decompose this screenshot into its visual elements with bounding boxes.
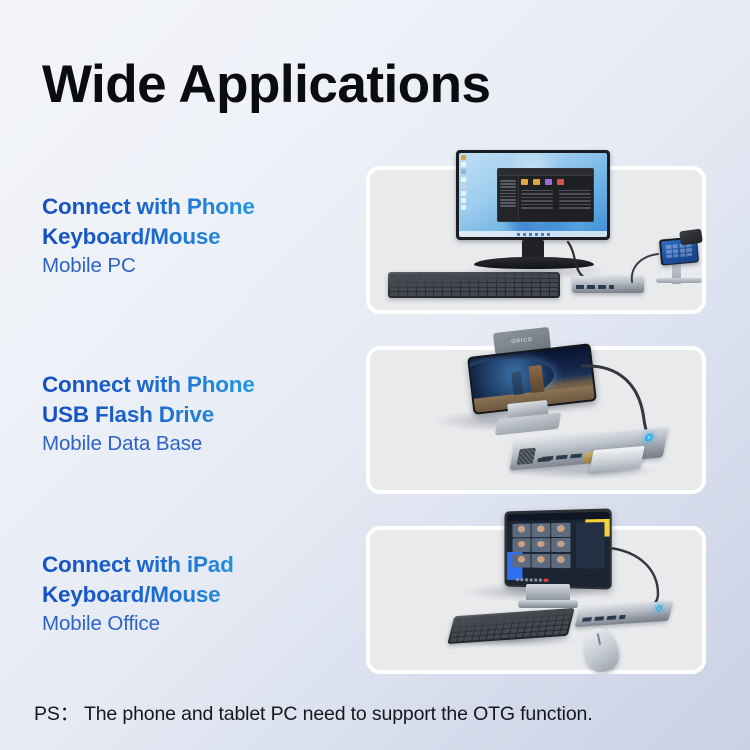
power-led	[656, 606, 662, 611]
orico-logo-text: ORICO	[511, 337, 533, 345]
scene-ipad-keyboard-hub-mouse	[366, 504, 706, 674]
explorer-toolbar	[498, 169, 593, 176]
application-row-1: Connect with Phone Keyboard/Mouse Mobile…	[0, 140, 750, 316]
heading-line1-2: Connect with Phone	[42, 370, 342, 400]
stand-top-clamp	[679, 229, 703, 246]
scene-phone-stand-hub-usbdrive: ORICO	[366, 324, 706, 494]
heading-line2-1: Keyboard/Mouse	[42, 222, 342, 252]
subtitle-2: Mobile Data Base	[42, 432, 342, 456]
explorer-sidebar	[498, 176, 519, 222]
mouse	[580, 625, 622, 674]
meeting-control-bar	[516, 577, 577, 584]
explorer-file-rows	[521, 188, 591, 211]
power-led	[645, 434, 654, 442]
heading-line1-1: Connect with Phone	[42, 192, 342, 222]
application-image-card-1	[366, 166, 706, 314]
windows-taskbar	[459, 231, 607, 237]
participant-video-grid	[512, 522, 570, 568]
explorer-body	[498, 176, 593, 222]
heading-line1-3: Connect with iPad	[42, 550, 342, 580]
scene-stage-3	[366, 504, 706, 674]
ipad-screen	[507, 511, 609, 587]
usb-hub	[575, 601, 674, 627]
application-text-1: Connect with Phone Keyboard/Mouse Mobile…	[42, 192, 342, 278]
desktop-icons	[461, 155, 466, 210]
stand-base	[656, 278, 702, 283]
heading-line2-2: USB Flash Drive	[42, 400, 342, 430]
phone-app-grid	[666, 243, 692, 258]
page-title: Wide Applications	[42, 57, 490, 113]
application-image-card-2: ORICO	[366, 346, 706, 494]
explorer-folder-icons	[521, 179, 591, 185]
keyboard	[388, 272, 560, 298]
keyboard-keys	[390, 274, 558, 296]
application-image-card-3	[366, 526, 706, 674]
phone-on-stand	[650, 230, 706, 286]
monitor	[456, 150, 610, 240]
meeting-chat-panel	[577, 522, 605, 569]
explorer-content	[519, 176, 593, 222]
subtitle-3: Mobile Office	[42, 612, 342, 636]
application-row-3: Connect with iPad Keyboard/Mouse Mobile …	[0, 500, 750, 676]
ipad-stand-base	[518, 600, 578, 608]
application-text-2: Connect with Phone USB Flash Drive Mobil…	[42, 370, 342, 456]
product-feature-page: Wide Applications Connect with Phone Key…	[0, 0, 750, 750]
scene-stage-2: ORICO	[366, 324, 706, 494]
subtitle-1: Mobile PC	[42, 254, 342, 278]
ipad	[504, 508, 611, 589]
scene-monitor-keyboard-hub-phone	[366, 144, 706, 314]
hub-mesh-grille	[517, 448, 537, 465]
hub-ports	[581, 611, 665, 622]
scene-stage-1	[366, 144, 706, 314]
footnote: PS： The phone and tablet PC need to supp…	[34, 697, 593, 726]
application-text-3: Connect with iPad Keyboard/Mouse Mobile …	[42, 550, 342, 636]
file-explorer-window	[497, 168, 594, 222]
heading-line2-3: Keyboard/Mouse	[42, 580, 342, 610]
monitor-screen	[459, 153, 607, 237]
application-row-2: Connect with Phone USB Flash Drive Mobil…	[0, 320, 750, 496]
